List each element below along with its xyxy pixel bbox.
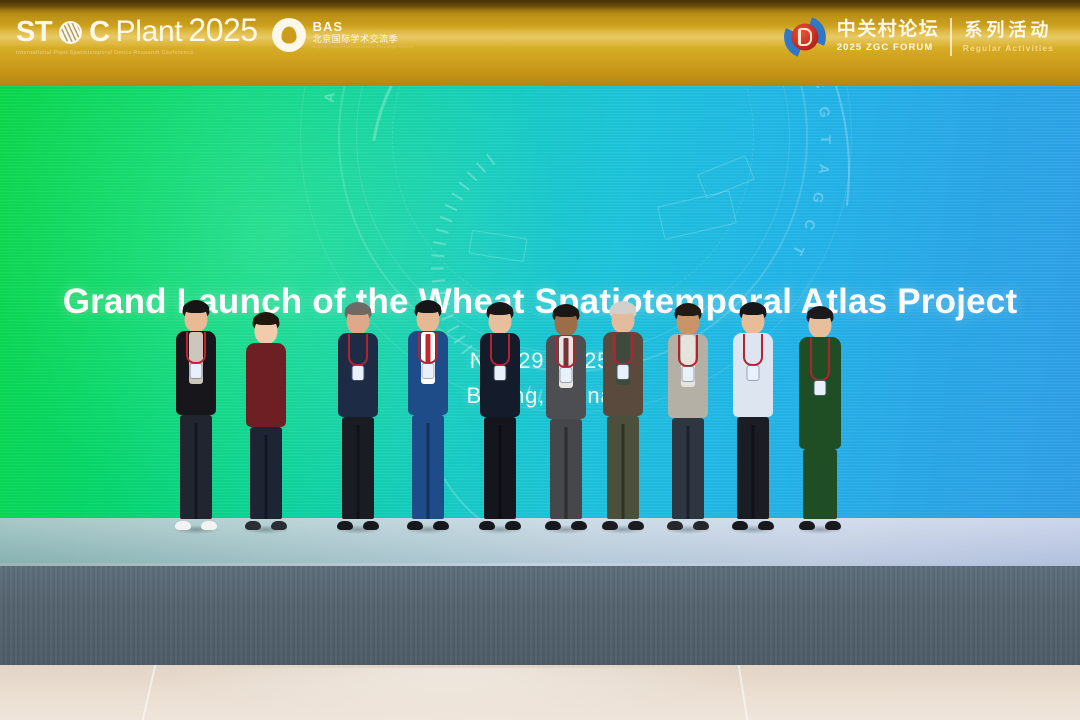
person: [331, 302, 385, 530]
person-shoe-left: [602, 521, 618, 530]
person-shoe-left: [337, 521, 353, 530]
person-leg-gap: [687, 426, 690, 519]
conference-stage-photo: ATCGGTAGGTCGTACGGTACGGTACGTAGCT Grand La…: [0, 0, 1080, 720]
person-shoe-right: [433, 521, 449, 530]
person-shoe-right: [201, 521, 217, 530]
person-lanyard: [743, 334, 763, 366]
zgc-chinese-name: 中关村论坛: [837, 20, 940, 41]
person-leg-gap: [752, 425, 755, 519]
person-hair-top: [675, 304, 701, 316]
person-hair-top: [807, 307, 833, 319]
person: [473, 302, 527, 530]
person-leg-gap: [195, 423, 198, 519]
person-badge: [748, 366, 759, 380]
person-leg-gap: [622, 424, 625, 519]
person-lanyard: [186, 332, 206, 364]
banner-left-lockup: STC Plant 2025 International Plant Spati…: [16, 14, 414, 56]
stoc-prefix: ST: [16, 18, 52, 47]
zgc-activity-english: Regular Activities: [963, 44, 1054, 53]
stoc-plant-logo: STC Plant 2025 International Plant Spati…: [16, 14, 258, 56]
person-hair-top: [345, 303, 371, 315]
banner-top-shade: [0, 0, 1080, 10]
person-shoe-left: [799, 521, 815, 530]
person: [793, 306, 847, 530]
bas-abbreviation: BAS: [313, 20, 414, 34]
person-leg-gap: [499, 425, 502, 519]
person-leg-gap: [427, 423, 430, 519]
person: [169, 300, 223, 530]
person-shoe-right: [571, 521, 587, 530]
lockup-divider: [950, 18, 952, 56]
person-badge: [353, 366, 364, 380]
person-badge: [683, 367, 694, 381]
person-badge: [815, 381, 826, 395]
person-leg-gap: [357, 425, 360, 519]
person-legs: [803, 449, 837, 519]
person-lanyard: [678, 335, 698, 367]
person-badge: [561, 368, 572, 382]
person-hair-top: [553, 305, 579, 317]
person-shoe-left: [175, 521, 191, 530]
stoc-year: 2025: [188, 14, 257, 46]
person-shoe-left: [245, 521, 261, 530]
person: [539, 304, 593, 530]
person-shoe-right: [758, 521, 774, 530]
zgc-english-name: 2025 ZGC FORUM: [837, 43, 940, 53]
person-shoe-left: [479, 521, 495, 530]
zgc-activity-chinese: 系列活动: [963, 21, 1054, 41]
person-shoe-right: [505, 521, 521, 530]
globe-icon: [59, 21, 82, 44]
stoc-suffix: C: [89, 18, 109, 47]
event-banner: STC Plant 2025 International Plant Spati…: [0, 0, 1080, 86]
person-leg-gap: [265, 435, 268, 519]
person-shoe-left: [667, 521, 683, 530]
person-lanyard: [810, 338, 830, 381]
person: [726, 302, 780, 530]
person-leg-gap: [565, 427, 568, 519]
person-lanyard: [556, 336, 576, 368]
person-shoe-left: [732, 521, 748, 530]
person-lanyard: [613, 333, 633, 365]
person-shoe-left: [545, 521, 561, 530]
person-hair-top: [253, 313, 279, 325]
person-hair-top: [610, 302, 636, 314]
person-hair-top: [183, 301, 209, 313]
bas-leaf-mark-icon: [272, 18, 306, 52]
person-hair-top: [740, 303, 766, 315]
person-lanyard: [490, 334, 510, 366]
person: [661, 303, 715, 530]
people-group: [0, 0, 1080, 720]
person-shirt: [259, 344, 273, 396]
stoc-plant-word: Plant: [116, 17, 183, 47]
person-lanyard: [418, 332, 438, 364]
bas-chinese-name: 北京国际学术交流季: [313, 35, 414, 44]
person-shoe-right: [628, 521, 644, 530]
person: [239, 312, 293, 530]
person-lanyard: [348, 334, 368, 366]
person-hair-top: [487, 303, 513, 315]
person: [401, 300, 455, 530]
zgc-forum-emblem-icon: [784, 16, 826, 58]
person-shoe-right: [825, 521, 841, 530]
bas-english-name: Beijing International Academic Exchange …: [313, 45, 414, 49]
person-shoe-left: [407, 521, 423, 530]
banner-right-lockup: 中关村论坛 2025 ZGC FORUM 系列活动 Regular Activi…: [784, 16, 1054, 58]
person-badge: [191, 364, 202, 378]
bas-logo: BAS 北京国际学术交流季 Beijing International Acad…: [272, 18, 414, 52]
person: [596, 301, 650, 530]
person-shoe-right: [363, 521, 379, 530]
person-badge: [618, 365, 629, 379]
person-badge: [423, 364, 434, 378]
stoc-tagline: International Plant Spatiotemporal Omics…: [16, 50, 258, 56]
person-shoe-right: [271, 521, 287, 530]
person-badge: [495, 366, 506, 380]
person-hair-top: [415, 301, 441, 313]
person-shoe-right: [693, 521, 709, 530]
